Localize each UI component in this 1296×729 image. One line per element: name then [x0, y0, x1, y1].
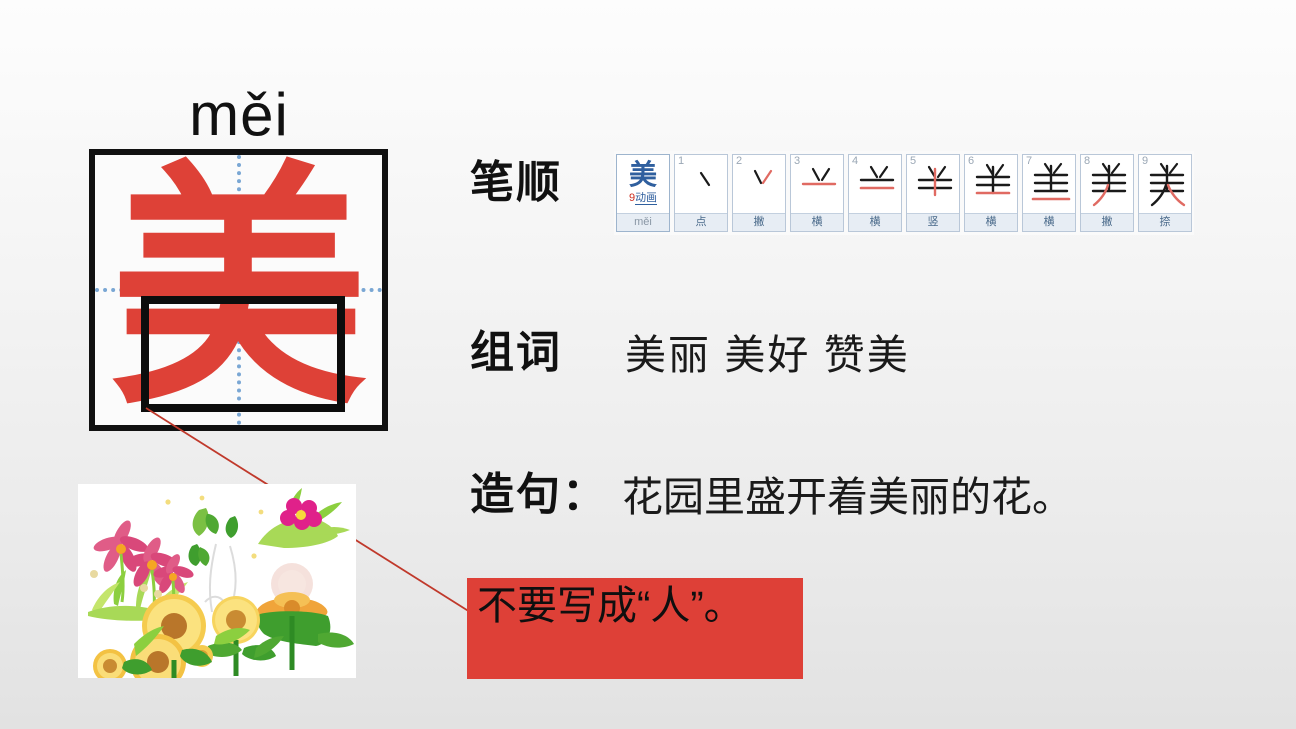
stroke-summary-art: 美 9动画	[617, 155, 669, 213]
stroke-name-1: 点	[675, 213, 727, 231]
stroke-cell-summary[interactable]: 美 9动画 měi	[616, 154, 670, 232]
value-words: 美丽 美好 赞美	[625, 332, 910, 378]
stroke-summary-character: 美	[617, 155, 669, 191]
stroke-drawing-8	[1081, 155, 1133, 213]
component-highlight-box	[141, 296, 345, 412]
stroke-name-9: 捺	[1139, 213, 1191, 231]
stroke-name-2: 撇	[733, 213, 785, 231]
stroke-drawing-3	[791, 155, 843, 213]
stroke-art-5: 5	[907, 155, 959, 213]
value-sentence: 花园里盛开着美丽的花。	[622, 474, 1073, 520]
stroke-summary-pinyin: měi	[617, 213, 669, 231]
stroke-cell-7[interactable]: 7 横	[1022, 154, 1076, 232]
flower-illustration	[78, 484, 356, 678]
stroke-drawing-2	[733, 155, 785, 213]
stroke-name-5: 竖	[907, 213, 959, 231]
stroke-name-6: 横	[965, 213, 1017, 231]
stroke-art-8: 8	[1081, 155, 1133, 213]
stroke-drawing-4	[849, 155, 901, 213]
stroke-cell-8[interactable]: 8 撇	[1080, 154, 1134, 232]
label-words: 组词	[470, 330, 562, 376]
stroke-order-panel[interactable]: 美 9动画 měi 1 点 2	[614, 151, 1194, 235]
label-sentence: 造句：	[470, 472, 608, 518]
stroke-name-8: 撇	[1081, 213, 1133, 231]
flower-clipart-image	[78, 484, 356, 678]
stroke-cell-3[interactable]: 3 横	[790, 154, 844, 232]
slide-canvas: měi 美	[0, 0, 1296, 729]
stroke-art-2: 2	[733, 155, 785, 213]
stroke-cell-5[interactable]: 5 竖	[906, 154, 960, 232]
stroke-drawing-1	[675, 155, 727, 213]
stroke-cell-1[interactable]: 1 点	[674, 154, 728, 232]
stroke-name-4: 横	[849, 213, 901, 231]
pinyin-label: měi	[89, 84, 389, 146]
stroke-drawing-5	[907, 155, 959, 213]
stroke-art-9: 9	[1139, 155, 1191, 213]
stroke-art-7: 7	[1023, 155, 1075, 213]
animation-link[interactable]: 动画	[635, 192, 657, 205]
stroke-summary-meta: 9动画	[617, 191, 669, 205]
warning-box: 不要写成“人”。	[467, 578, 803, 679]
label-stroke-order: 笔顺	[470, 160, 562, 206]
stroke-name-3: 横	[791, 213, 843, 231]
stroke-art-6: 6	[965, 155, 1017, 213]
warning-text: 不要写成“人”。	[477, 582, 795, 630]
stroke-cell-4[interactable]: 4 横	[848, 154, 902, 232]
stroke-drawing-6	[965, 155, 1017, 213]
stroke-cell-9[interactable]: 9 捺	[1138, 154, 1192, 232]
stroke-name-7: 横	[1023, 213, 1075, 231]
stroke-cell-2[interactable]: 2 撇	[732, 154, 786, 232]
stroke-drawing-9	[1139, 155, 1191, 213]
stroke-drawing-7	[1023, 155, 1075, 213]
stroke-art-1: 1	[675, 155, 727, 213]
stroke-art-3: 3	[791, 155, 843, 213]
stroke-art-4: 4	[849, 155, 901, 213]
stroke-cell-6[interactable]: 6 横	[964, 154, 1018, 232]
